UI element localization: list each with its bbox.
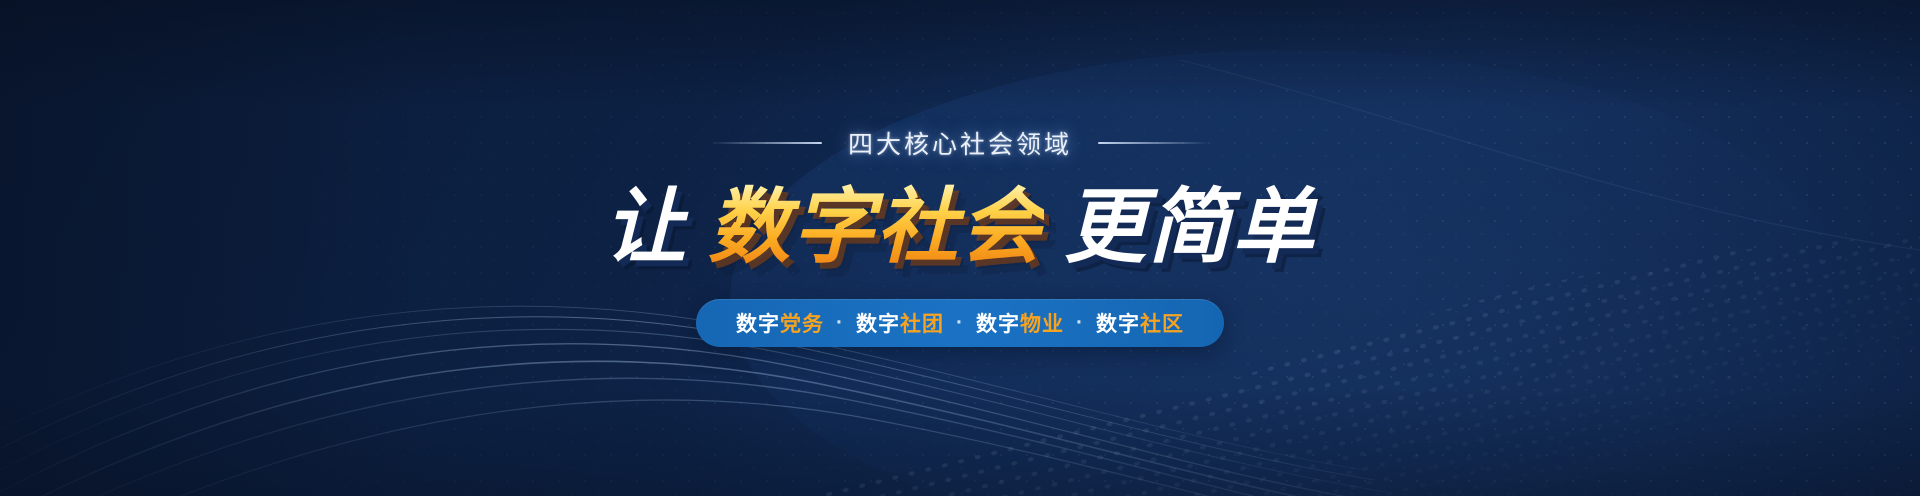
- headline-part-2-gold: 数字社会: [708, 184, 1044, 273]
- decorative-line-right-icon: [1098, 142, 1210, 144]
- headline-part-3: 更简单: [1064, 184, 1316, 273]
- badge-item-3-highlight: 社区: [1140, 308, 1184, 338]
- banner-content: 四大核心社会领域 让 数字社会 更简单 数字党务 · 数字社团 · 数字物业 ·…: [0, 0, 1920, 496]
- badge-separator-0: ·: [836, 311, 844, 335]
- badge-item-2-prefix: 数字: [976, 308, 1020, 338]
- service-badge[interactable]: 数字党务 · 数字社团 · 数字物业 · 数字社区: [696, 299, 1224, 347]
- hero-banner: 四大核心社会领域 让 数字社会 更简单 数字党务 · 数字社团 · 数字物业 ·…: [0, 0, 1920, 496]
- badge-item-1-highlight: 社团: [900, 308, 944, 338]
- badge-item-3-prefix: 数字: [1096, 308, 1140, 338]
- badge-separator-1: ·: [956, 311, 964, 335]
- badge-item-0-highlight: 党务: [780, 308, 824, 338]
- badge-item-2-highlight: 物业: [1020, 308, 1064, 338]
- headline: 让 数字社会 更简单: [604, 184, 1316, 273]
- headline-part-1: 让: [604, 184, 688, 273]
- badge-separator-2: ·: [1076, 311, 1084, 335]
- badge-item-0-prefix: 数字: [736, 308, 780, 338]
- eyebrow-row: 四大核心社会领域: [710, 126, 1210, 160]
- decorative-line-left-icon: [710, 142, 822, 144]
- eyebrow-text: 四大核心社会领域: [848, 125, 1072, 161]
- badge-item-1-prefix: 数字: [856, 308, 900, 338]
